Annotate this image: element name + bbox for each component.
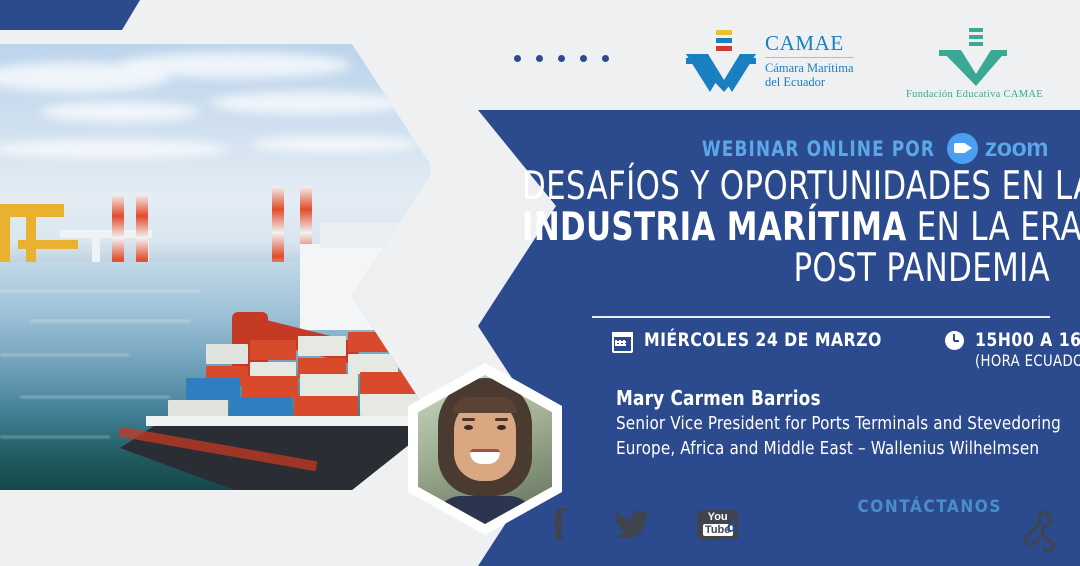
schedule-timezone-label: (HORA ECUADOR) [975, 351, 1080, 370]
contact-block: CONTÁCTANOS dgarcia@camae.org 09 98 45 6… [658, 497, 1002, 556]
contact-email[interactable]: fundacioncamae@camae.org [658, 537, 879, 556]
fundacion-chevron-mark [938, 28, 1010, 86]
contact-heading: CONTÁCTANOS [658, 497, 1002, 518]
speaker-role-line2: Europe, Africa and Middle East – Walleni… [616, 436, 1061, 461]
contact-row: fundacioncamae@camae.org 09 98 69 9155 [658, 537, 1002, 556]
title-divider [592, 316, 1050, 318]
fundacion-caption: Fundación Educativa CAMAE [906, 89, 1043, 100]
contact-phone[interactable]: 09 98 45 6338 [893, 518, 1002, 537]
schedule-time: 15H00 A 16H00 (HORA ECUADOR) [945, 330, 1080, 370]
speaker-name: Mary Carmen Barrios [616, 386, 1061, 411]
zoom-wordmark: zoom [985, 134, 1048, 163]
title-line-2: INDUSTRIA MARÍTIMA EN LA ERA [522, 207, 1050, 248]
fundacion-logo: Fundación Educativa CAMAE [906, 28, 1043, 100]
webinar-label: WEBINAR ONLINE POR [702, 137, 935, 161]
camae-logo: CAMAE Cámara Marítima del Ecuador [686, 30, 854, 92]
zoom-camera-icon [947, 133, 978, 164]
title-line-1: DESAFÍOS Y OPORTUNIDADES EN LA [522, 166, 1050, 207]
title-emphasis: INDUSTRIA MARÍTIMA [522, 205, 907, 250]
schedule-date: MIÉRCOLES 24 DE MARZO [612, 330, 903, 353]
speaker-block: Mary Carmen Barrios Senior Vice Presiden… [616, 386, 1080, 461]
twitter-icon[interactable] [609, 506, 655, 544]
speaker-role-line1: Senior Vice President for Ports Terminal… [616, 411, 1061, 436]
contact-email[interactable]: dgarcia@camae.org [727, 518, 879, 537]
webinar-platform-row: WEBINAR ONLINE POR zoom [676, 133, 1048, 164]
camae-subtitle-line2: del Ecuador [765, 75, 854, 90]
top-left-accent-bar [0, 0, 140, 30]
schedule-row: MIÉRCOLES 24 DE MARZO 15H00 A 16H00 (HOR… [612, 330, 1080, 370]
title-line-3: POST PANDEMIA [522, 248, 1050, 289]
schedule-time-label: 15H00 A 16H00 [975, 330, 1080, 351]
camae-subtitle-line1: Cámara Marítima [765, 61, 854, 76]
phone-handset-icon [1020, 508, 1060, 559]
facebook-icon[interactable]: f [552, 508, 567, 542]
calendar-icon [612, 332, 633, 353]
zoom-logo[interactable]: zoom [947, 133, 1048, 164]
page-title: DESAFÍOS Y OPORTUNIDADES EN LA INDUSTRIA… [450, 166, 1050, 289]
contact-row: dgarcia@camae.org 09 98 45 6338 [658, 518, 1002, 537]
camae-logo-name: CAMAE [765, 33, 854, 54]
hero-ship-image [0, 44, 430, 490]
clock-icon [945, 331, 964, 350]
contact-phone[interactable]: 09 98 69 9155 [893, 537, 1002, 556]
dot-decoration [514, 55, 609, 62]
webinar-poster: CAMAE Cámara Marítima del Ecuador Fundac… [0, 0, 1080, 566]
schedule-date-label: MIÉRCOLES 24 DE MARZO [644, 330, 882, 351]
title-line-2-rest: EN LA ERA [907, 205, 1080, 250]
camae-chevron-mark [686, 30, 756, 92]
